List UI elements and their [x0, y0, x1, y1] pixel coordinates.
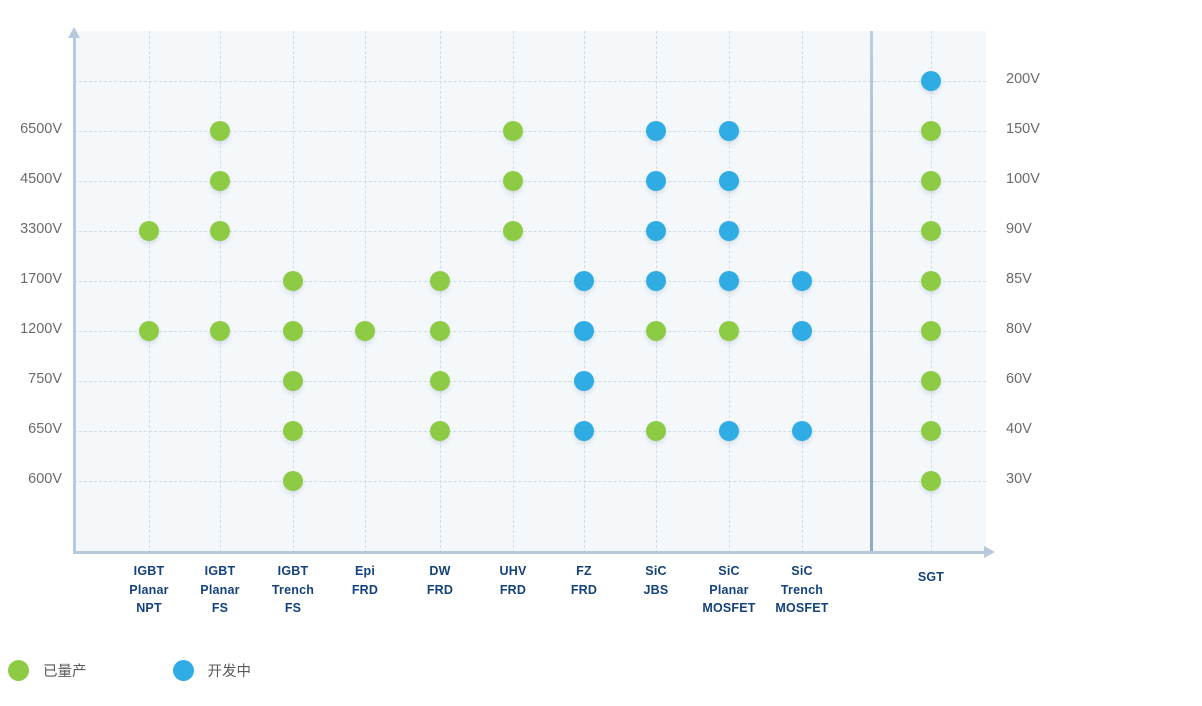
data-point[interactable] — [283, 421, 303, 441]
data-point[interactable] — [574, 321, 594, 341]
data-point[interactable] — [792, 321, 812, 341]
x-axis-label-line: Trench — [742, 581, 862, 600]
y-axis-line — [73, 34, 76, 553]
data-point[interactable] — [430, 271, 450, 291]
x-axis-label-line: SiC — [742, 562, 862, 581]
data-point[interactable] — [921, 121, 941, 141]
data-point[interactable] — [921, 371, 941, 391]
data-point[interactable] — [355, 321, 375, 341]
data-point[interactable] — [430, 421, 450, 441]
legend: 已量产开发中 — [8, 660, 337, 681]
data-point[interactable] — [921, 171, 941, 191]
data-point[interactable] — [503, 121, 523, 141]
y-axis-left-tick-label: 1200V — [0, 321, 62, 337]
data-point[interactable] — [430, 371, 450, 391]
data-point[interactable] — [430, 321, 450, 341]
legend-swatch-circle-icon — [8, 660, 29, 681]
data-point[interactable] — [210, 321, 230, 341]
x-axis-line — [73, 551, 986, 554]
data-point[interactable] — [646, 321, 666, 341]
x-axis-label-sgt: SGT — [871, 568, 991, 587]
data-point[interactable] — [921, 321, 941, 341]
legend-item[interactable]: 已量产 — [8, 660, 87, 681]
data-point[interactable] — [210, 121, 230, 141]
data-point[interactable] — [921, 471, 941, 491]
legend-swatch-circle-icon — [173, 660, 194, 681]
data-point[interactable] — [574, 371, 594, 391]
data-point[interactable] — [503, 171, 523, 191]
chart-canvas: 6500V4500V3300V1700V1200V750V650V600V 20… — [0, 0, 1202, 706]
y-axis-right-tick-label: 30V — [1006, 471, 1032, 487]
data-point[interactable] — [719, 421, 739, 441]
data-point[interactable] — [719, 171, 739, 191]
data-point[interactable] — [283, 471, 303, 491]
data-point[interactable] — [503, 221, 523, 241]
data-point[interactable] — [139, 221, 159, 241]
y-axis-left-tick-label: 6500V — [0, 121, 62, 137]
data-point[interactable] — [646, 221, 666, 241]
data-point[interactable] — [646, 171, 666, 191]
data-point[interactable] — [792, 421, 812, 441]
data-point[interactable] — [139, 321, 159, 341]
y-axis-left-tick-label: 1700V — [0, 271, 62, 287]
y-axis-right-tick-label: 100V — [1006, 171, 1040, 187]
data-point[interactable] — [210, 221, 230, 241]
data-point[interactable] — [646, 121, 666, 141]
legend-label: 已量产 — [43, 660, 87, 681]
x-axis-label-sic-trench-mosfet: SiCTrenchMOSFET — [742, 562, 862, 618]
data-point[interactable] — [574, 421, 594, 441]
data-point[interactable] — [719, 321, 739, 341]
data-point[interactable] — [921, 271, 941, 291]
data-point[interactable] — [792, 271, 812, 291]
y-axis-left-tick-label: 750V — [0, 371, 62, 387]
data-point[interactable] — [921, 421, 941, 441]
data-point[interactable] — [719, 271, 739, 291]
y-axis-right-tick-label: 60V — [1006, 371, 1032, 387]
y-axis-right-tick-label: 80V — [1006, 321, 1032, 337]
data-points-layer — [74, 31, 986, 553]
y-axis-right-tick-label: 150V — [1006, 121, 1040, 137]
x-axis-arrow-icon — [984, 546, 995, 558]
legend-item[interactable]: 开发中 — [173, 660, 252, 681]
data-point[interactable] — [283, 371, 303, 391]
y-axis-left-tick-label: 600V — [0, 471, 62, 487]
data-point[interactable] — [574, 271, 594, 291]
y-axis-right-tick-label: 85V — [1006, 271, 1032, 287]
y-axis-left-tick-label: 3300V — [0, 221, 62, 237]
y-axis-left-tick-label: 4500V — [0, 171, 62, 187]
y-axis-right-tick-label: 40V — [1006, 421, 1032, 437]
x-axis-label-line: MOSFET — [742, 599, 862, 618]
data-point[interactable] — [921, 71, 941, 91]
data-point[interactable] — [921, 221, 941, 241]
data-point[interactable] — [283, 271, 303, 291]
y-axis-right-tick-label: 200V — [1006, 71, 1040, 87]
data-point[interactable] — [719, 121, 739, 141]
y-axis-left-tick-label: 650V — [0, 421, 62, 437]
legend-label: 开发中 — [208, 660, 252, 681]
x-axis-label-line: FS — [233, 599, 353, 618]
data-point[interactable] — [719, 221, 739, 241]
data-point[interactable] — [646, 421, 666, 441]
y-axis-right-tick-label: 90V — [1006, 221, 1032, 237]
data-point[interactable] — [210, 171, 230, 191]
y-axis-arrow-icon — [68, 27, 80, 38]
data-point[interactable] — [283, 321, 303, 341]
data-point[interactable] — [646, 271, 666, 291]
x-axis-label-line: SGT — [871, 568, 991, 587]
